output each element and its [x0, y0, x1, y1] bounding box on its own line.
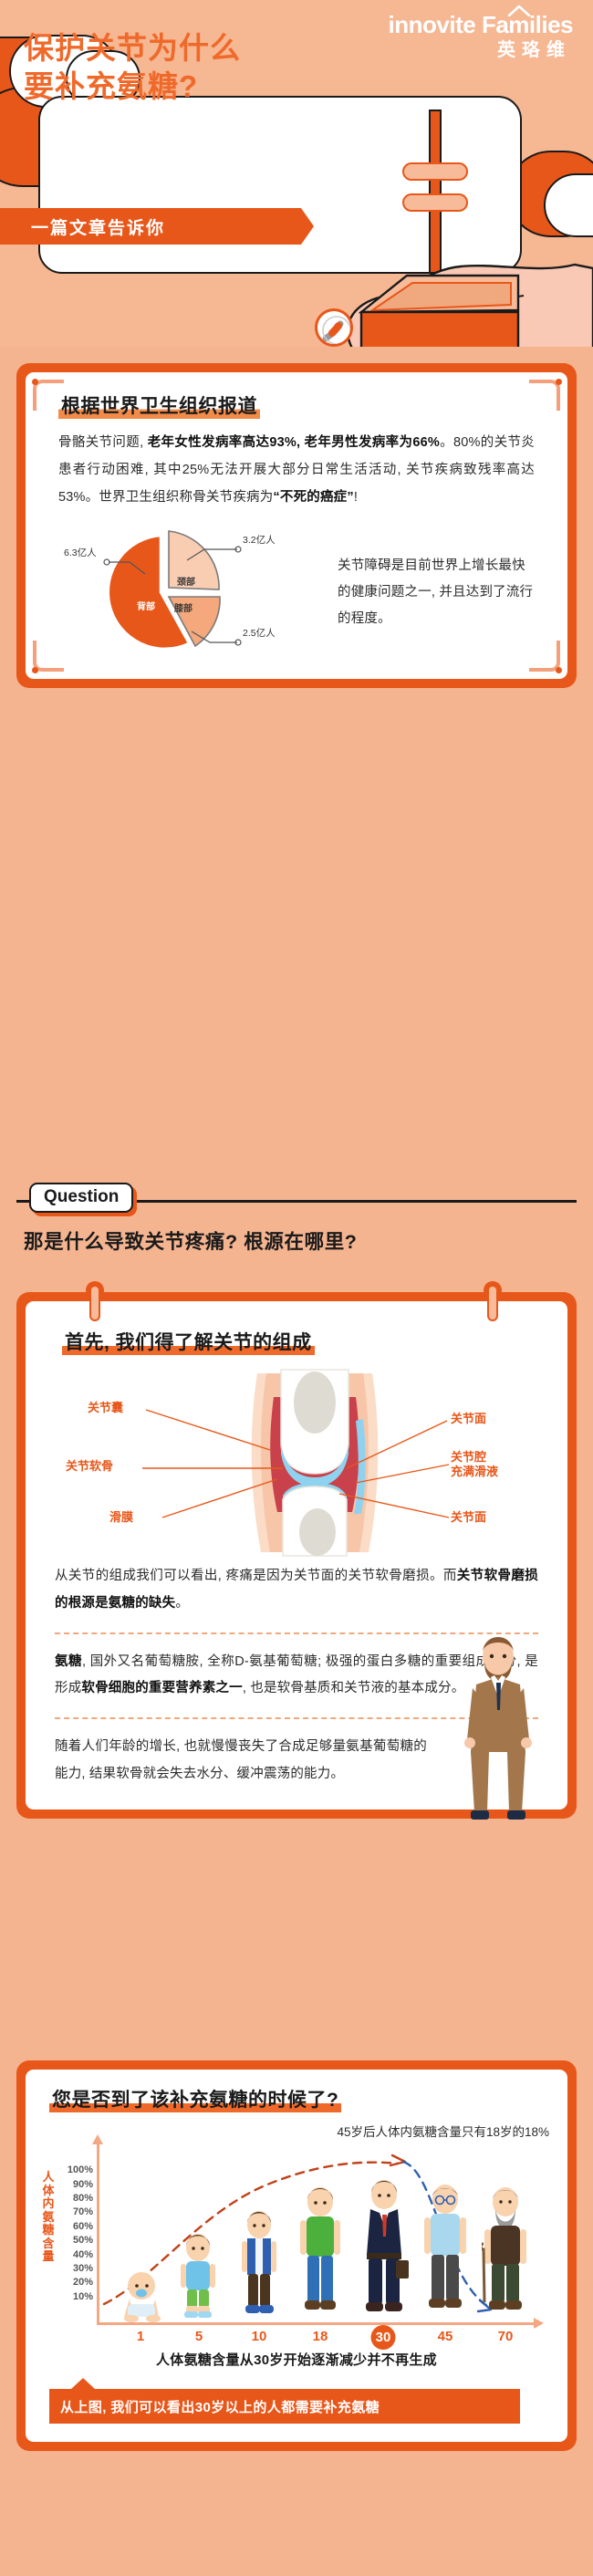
hero-title-line1: 保护关节为什么: [24, 29, 241, 68]
person-age-30: [359, 2176, 409, 2322]
y-tick: 70%: [57, 2206, 93, 2219]
x-label-30-highlighted: 30: [371, 2325, 396, 2350]
bracket-top-right: [529, 380, 560, 411]
age-chart-caption: 人体氨糖含量从30岁开始逐渐减少并不再生成: [38, 2350, 555, 2369]
hero-title-card: [38, 96, 522, 274]
person-age-5: [177, 2231, 219, 2322]
binder-ring-top: [402, 162, 468, 181]
pie-slice-label-back: 背部: [137, 599, 155, 612]
anatomy-section: 首先, 我们得了解关节的组成: [16, 1292, 577, 1819]
anatomy-section-body: 首先, 我们得了解关节的组成: [26, 1301, 567, 1809]
age-chart-body: 您是否到了该补充氨糖的时候了? 45岁后人体内氨糖含量只有18岁的18% 人体内…: [26, 2070, 567, 2442]
y-tick: 30%: [57, 2262, 93, 2276]
who-section: 根据世界卫生组织报道 骨骼关节问题, 老年女性发病率高达93%, 老年男性发病率…: [16, 363, 577, 688]
x-label-18: 18: [313, 2329, 328, 2344]
joint-pain-icon: [315, 308, 353, 347]
pie-chart-row: 背部 颈部 膝部 6.3亿人 3.2亿人 2.5亿人 关节障碍是目前世界上增长最…: [58, 524, 535, 661]
binder-post: [429, 110, 442, 274]
brand-logo-cn: 英珞维: [389, 41, 573, 59]
person-age-10: [237, 2208, 281, 2322]
conclusion-banner: 从上图, 我们可以看出30岁以上的人都需要补充氨糖: [49, 2389, 520, 2424]
y-tick: 50%: [57, 2234, 93, 2247]
question-text: 那是什么导致关节疼痛? 根源在哪里?: [24, 1226, 358, 1255]
x-label-1: 1: [137, 2329, 144, 2344]
x-label-70: 70: [498, 2329, 514, 2344]
hero-ribbon: 一篇文章告诉你: [0, 208, 301, 245]
anatomy-paragraph-3: 随着人们年龄的增长, 也就慢慢丧失了合成足够量氨基葡萄糖的能力, 结果软骨就会失…: [55, 1734, 427, 1788]
pie-value-back: 6.3亿人: [64, 546, 97, 559]
bracket-bottom-right: [529, 641, 560, 672]
who-paragraph: 骨骼关节问题, 老年女性发病率高达93%, 老年男性发病率为66%。80%的关节…: [58, 430, 535, 511]
y-tick: 20%: [57, 2276, 93, 2289]
y-tick: 80%: [57, 2192, 93, 2206]
x-label-5: 5: [195, 2329, 203, 2344]
y-tick: 60%: [57, 2220, 93, 2234]
binder-ring-bottom: [402, 193, 468, 212]
person-age-70: [482, 2184, 531, 2322]
x-label-45: 45: [438, 2329, 453, 2344]
anatomy-label-cartilage: 关节软骨: [66, 1459, 113, 1474]
who-section-body: 根据世界卫生组织报道 骨骼关节问题, 老年女性发病率高达93%, 老年男性发病率…: [26, 372, 567, 679]
bracket-top-left: [33, 380, 64, 411]
conclusion-banner-text: 从上图, 我们可以看出30岁以上的人都需要补充氨糖: [60, 2397, 380, 2416]
pie-chart: 背部 颈部 膝部 6.3亿人 3.2亿人 2.5亿人: [58, 524, 332, 661]
person-age-45: [421, 2181, 469, 2322]
hanger-left: [89, 1285, 100, 1321]
knee-joint-diagram: 关节囊 关节软骨 滑膜 关节面 关节腔 充满滑液 关节面: [55, 1366, 538, 1559]
brand-logo-en-text: innovite Families: [389, 11, 573, 38]
anatomy-paragraph-1: 从关节的组成我们可以看出, 疼痛是因为关节面的关节软骨磨损。而关节软骨磨损的根源…: [55, 1563, 538, 1617]
anatomy-label-capsule: 关节囊: [88, 1401, 123, 1415]
age-chart-note: 45岁后人体内氨糖含量只有18岁的18%: [337, 2122, 549, 2140]
age-chart-y-axis-title: 人体内氨糖含量: [40, 2171, 57, 2264]
x-label-10: 10: [252, 2329, 267, 2344]
pill-box-illustration: [358, 274, 522, 347]
hero-title: 保护关节为什么 要补充氨糖?: [24, 29, 241, 106]
age-chart-section: 您是否到了该补充氨糖的时候了? 45岁后人体内氨糖含量只有18岁的18% 人体内…: [16, 2060, 577, 2451]
hero-ribbon-text: 一篇文章告诉你: [31, 214, 165, 239]
anatomy-label-synovium: 滑膜: [109, 1510, 133, 1525]
anatomy-label-cavity: 关节腔 充满滑液: [451, 1450, 498, 1480]
question-tag: Question: [29, 1183, 133, 1213]
y-tick: 10%: [57, 2290, 93, 2304]
brand-logo-en: innovite Families: [389, 13, 573, 37]
pie-chart-svg: [58, 524, 332, 661]
age-heading: 您是否到了该补充氨糖的时候了?: [49, 2090, 341, 2112]
brand-logo: innovite Families 英珞维: [389, 13, 573, 59]
person-age-1: [115, 2268, 168, 2322]
y-tick: 40%: [57, 2248, 93, 2262]
pie-slice-label-neck: 颈部: [177, 574, 195, 588]
anatomy-label-surface-bottom: 关节面: [451, 1510, 486, 1525]
pie-value-neck: 3.2亿人: [243, 533, 276, 547]
y-tick: 90%: [57, 2178, 93, 2192]
question-section: Question 那是什么导致关节疼痛? 根源在哪里?: [16, 1183, 577, 1301]
house-roof-icon: [507, 5, 531, 16]
anatomy-label-surface-top: 关节面: [451, 1412, 486, 1426]
y-tick: 100%: [57, 2164, 93, 2177]
age-chart-y-ticks: 100% 90% 80% 70% 60% 50% 40% 30% 20% 10%: [57, 2164, 93, 2304]
pie-slice-label-knee: 膝部: [174, 600, 192, 614]
pie-value-knee: 2.5亿人: [243, 626, 276, 640]
who-side-text: 关节障碍是目前世界上增长最快的健康问题之一, 并且达到了流行的程度。: [338, 553, 535, 632]
hero-title-line2: 要补充氨糖?: [24, 68, 241, 106]
who-heading: 根据世界卫生组织报道: [58, 396, 260, 419]
age-line-chart: 45岁后人体内氨糖含量只有18岁的18% 人体内氨糖含量 100% 90% 80…: [38, 2118, 555, 2346]
hero-banner: innovite Families 英珞维 保护关节为什么 要补充氨糖? 一篇文…: [0, 0, 593, 347]
anatomy-heading: 首先, 我们得了解关节的组成: [62, 1332, 315, 1355]
hanger-right: [487, 1285, 498, 1321]
person-age-18: [297, 2184, 343, 2322]
doctor-illustration: [454, 1632, 542, 1823]
